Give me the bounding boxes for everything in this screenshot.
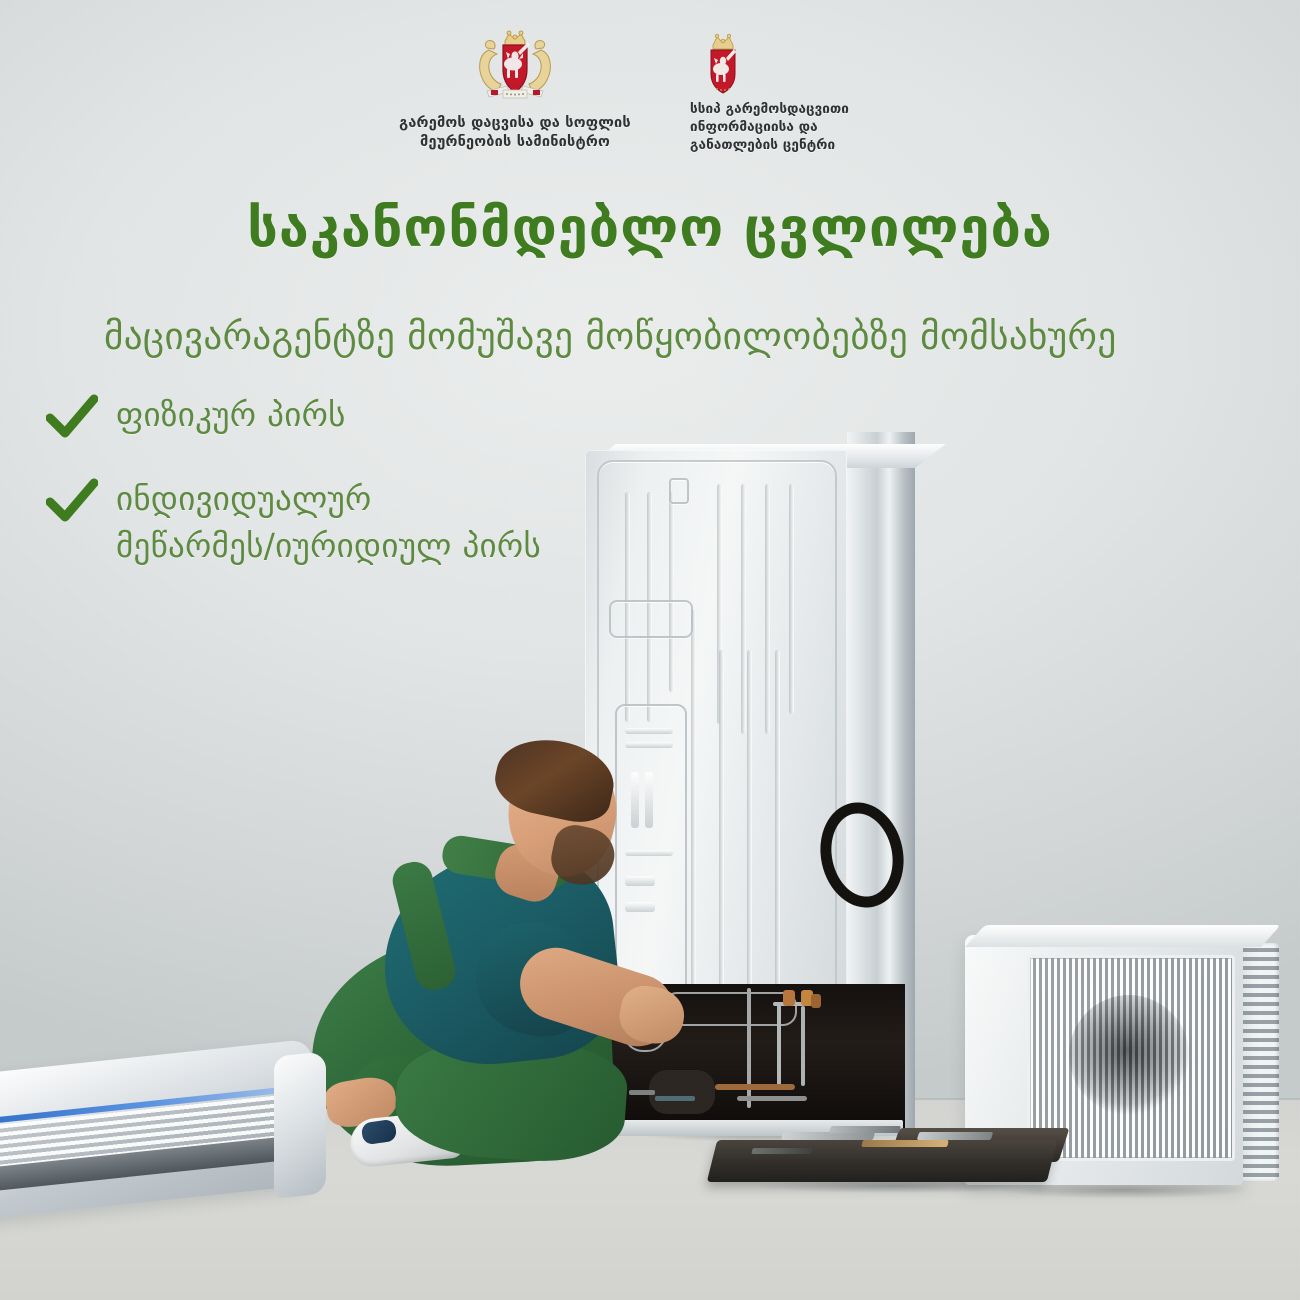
center-caption-line-3: განათლების ცენტრი	[690, 137, 849, 155]
ministry-caption: გარემოს დაცვისა და სოფლის მეურნეობის სამ…	[399, 114, 631, 152]
page-subtitle: მაცივარაგენტზე მომუშავე მოწყობილობებზე მ…	[104, 315, 1204, 358]
check-icon	[46, 394, 98, 440]
bullet-item-2: ინდივიდუალურ მეწარმეს/იურიდიულ პირს	[46, 476, 541, 570]
bullet-item-1: ფიზიკურ პირს	[46, 392, 346, 440]
ministry-logo-block: გარემოს დაცვისა და სოფლის მეურნეობის სამ…	[350, 28, 680, 152]
ac-indoor-end-cap	[274, 1051, 326, 1198]
bullet-text-2: ინდივიდუალურ მეწარმეს/იურიდიულ პირს	[116, 476, 541, 570]
tool-screwdriver	[829, 1126, 901, 1133]
ac-outdoor-top-panel	[965, 925, 1281, 947]
toolbox	[712, 1118, 1072, 1198]
page-title: საკანონმდებლო ცვლილება	[0, 196, 1300, 259]
bullet-2-line-2: მეწარმეს/იურიდიულ პირს	[116, 523, 541, 570]
center-logo-block: სსიპ გარემოსდაცვითი ინფორმაციისა და განა…	[690, 32, 920, 154]
ac-outdoor-fan	[1069, 995, 1189, 1115]
tool-brass-fitting	[861, 1140, 948, 1147]
center-caption-line-2: ინფორმაციისა და	[690, 119, 849, 137]
georgian-small-crest-icon	[700, 32, 746, 94]
bullet-2-line-1: ინდივიდუალურ	[116, 476, 541, 523]
center-caption: სსიპ გარემოსდაცვითი ინფორმაციისა და განა…	[690, 101, 849, 154]
check-icon	[46, 478, 98, 524]
center-caption-line-1: სსიპ გარემოსდაცვითი	[690, 101, 849, 119]
bullet-text-1: ფიზიკურ პირს	[116, 392, 346, 439]
ministry-caption-line-2: მეურნეობის სამინისტრო	[399, 133, 631, 152]
header: გარემოს დაცვისა და სოფლის მეურნეობის სამ…	[0, 28, 1300, 168]
tool-wrench	[781, 1132, 875, 1140]
poster-canvas: გარემოს დაცვისა და სოფლის მეურნეობის სამ…	[0, 0, 1300, 1300]
air-conditioner-indoor-unit	[0, 1048, 332, 1238]
bullet-1-line-1: ფიზიკურ პირს	[116, 392, 346, 439]
georgian-coat-of-arms-icon	[473, 28, 557, 106]
technician	[300, 735, 720, 1155]
ministry-caption-line-1: გარემოს დაცვისა და სოფლის	[399, 114, 631, 133]
tool-pliers	[917, 1132, 994, 1140]
tool-handle	[751, 1148, 812, 1154]
